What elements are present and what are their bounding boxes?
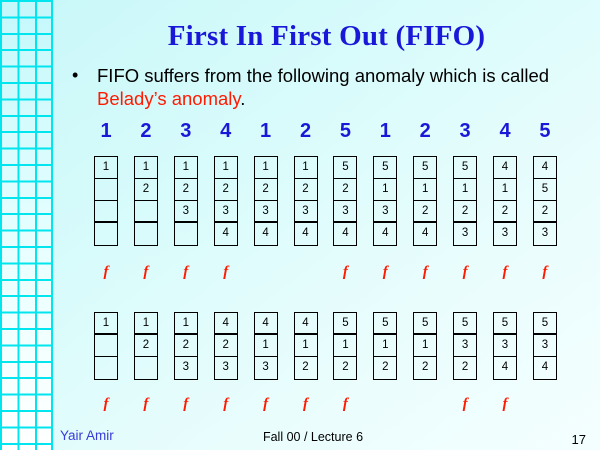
frame-cell: 1 [95,157,117,179]
page-fault-marker: f [333,396,357,413]
frame-cell [95,201,117,223]
page-fault-marker: f [214,264,238,281]
frame-column: 12 [134,156,158,246]
frame-cell: 5 [334,157,356,179]
frame-column: 423 [214,312,238,380]
reference-string-value: 3 [174,120,198,143]
frame-cell: 1 [135,157,157,179]
page-fault-marker: f [134,264,158,281]
frame-cell: 5 [374,157,396,179]
frame-cell: 1 [374,335,396,357]
frame-cell: 1 [95,313,117,335]
page-fault-marker: f [493,396,517,413]
frame-cell: 2 [215,179,237,201]
frame-cell: 5 [334,313,356,335]
frame-cell: 5 [494,313,516,335]
frame-cell: 4 [295,313,317,335]
frame-column: 1 [94,312,118,380]
frame-cell: 4 [255,313,277,335]
page-fault-marker: f [493,264,517,281]
frame-cell: 1 [255,157,277,179]
frame-cell: 4 [215,223,237,245]
frame-cell [135,357,157,379]
frame-cell: 5 [454,157,476,179]
frame-cell: 2 [374,357,396,379]
page-fault-marker: f [333,264,357,281]
frame-cell: 2 [135,179,157,201]
page-fault-marker: f [373,264,397,281]
page-fault-marker: f [453,396,477,413]
frame-cell [95,335,117,357]
bullet-text: FIFO suffers from the following anomaly … [97,64,577,110]
frame-cell: 5 [414,313,436,335]
frame-cell: 1 [334,335,356,357]
frame-cell: 1 [414,179,436,201]
frame-cell: 3 [215,357,237,379]
frame-cell: 3 [295,201,317,223]
frame-cell: 4 [494,357,516,379]
frame-cell: 2 [454,357,476,379]
frame-cell [95,223,117,245]
frame-column: 5234 [333,156,357,246]
frame-cell [95,179,117,201]
frame-cell: 3 [215,201,237,223]
frame-column: 1234 [294,156,318,246]
frame-column: 123 [174,156,198,246]
frame-cell: 1 [175,157,197,179]
frame-column: 5124 [413,156,437,246]
frame-cell: 5 [454,313,476,335]
reference-string-value: 1 [373,120,397,143]
slide-canvas: First In First Out (FIFO) • FIFO suffers… [0,0,600,450]
frame-cell: 4 [255,223,277,245]
reference-string-value: 4 [493,120,517,143]
frame-cell: 2 [454,201,476,223]
frame-column: 123 [174,312,198,380]
frame-cell: 5 [374,313,396,335]
frame-cell [135,223,157,245]
frame-column: 413 [254,312,278,380]
frame-cell: 1 [295,157,317,179]
frame-column: 12 [134,312,158,380]
page-fault-marker: f [134,396,158,413]
page-fault-marker: f [254,396,278,413]
page-title: First In First Out (FIFO) [53,20,600,53]
page-fault-marker: f [533,264,557,281]
frame-cell: 1 [414,335,436,357]
frame-column: 5123 [453,156,477,246]
frame-cell: 4 [494,157,516,179]
frame-cell: 1 [454,179,476,201]
page-fault-marker: f [214,396,238,413]
footer-center-label: Fall 00 / Lecture 6 [53,430,573,444]
frame-cell: 1 [295,335,317,357]
frame-cell: 2 [295,357,317,379]
reference-string-value: 1 [94,120,118,143]
frame-column: 4523 [533,156,557,246]
frame-cell: 2 [494,201,516,223]
page-fault-marker: f [453,264,477,281]
decorative-grid-edge [51,0,53,450]
frame-cell: 1 [255,335,277,357]
frame-cell: 2 [135,335,157,357]
frame-cell: 2 [295,179,317,201]
page-fault-marker: f [413,264,437,281]
frame-cell: 5 [534,179,556,201]
frame-cell: 2 [215,335,237,357]
frame-column: 512 [333,312,357,380]
frame-column: 4123 [493,156,517,246]
footer-page-number: 17 [572,432,586,447]
page-fault-marker: f [174,396,198,413]
bullet-text-lead: FIFO suffers from the following anomaly … [97,65,549,86]
frame-cell: 2 [334,179,356,201]
frame-cell: 4 [334,223,356,245]
frame-cell: 4 [414,223,436,245]
frame-column: 512 [373,312,397,380]
frame-cell [175,223,197,245]
page-fault-marker: f [294,396,318,413]
frame-cell: 3 [255,201,277,223]
frame-cell: 2 [175,335,197,357]
frame-cell: 3 [454,223,476,245]
frame-cell: 2 [414,357,436,379]
reference-string-value: 5 [533,120,557,143]
reference-string-value: 2 [134,120,158,143]
frame-cell: 1 [374,179,396,201]
frame-cell: 1 [175,313,197,335]
frame-column: 412 [294,312,318,380]
frame-cell: 1 [494,179,516,201]
frame-cell: 3 [494,223,516,245]
frame-cell: 5 [534,313,556,335]
frame-cell [135,201,157,223]
bullet-text-tail: . [240,88,245,109]
frame-cell: 5 [414,157,436,179]
frame-cell: 3 [534,335,556,357]
frame-cell: 4 [295,223,317,245]
frame-column: 5134 [373,156,397,246]
page-fault-marker: f [94,264,118,281]
bullet-paragraph: • FIFO suffers from the following anomal… [72,64,577,110]
frame-cell: 4 [215,313,237,335]
frame-cell: 1 [215,157,237,179]
reference-string-value: 1 [254,120,278,143]
frame-cell: 3 [374,201,396,223]
reference-string-value: 5 [333,120,357,143]
page-fault-marker: f [174,264,198,281]
frame-cell: 3 [175,201,197,223]
frame-cell: 3 [534,223,556,245]
frame-cell: 3 [175,357,197,379]
frame-cell: 3 [334,201,356,223]
frame-column: 534 [493,312,517,380]
bullet-point-icon: • [72,64,78,87]
frame-cell: 1 [135,313,157,335]
frame-column: 534 [533,312,557,380]
reference-string-value: 3 [453,120,477,143]
page-fault-marker: f [94,396,118,413]
bullet-text-highlight: Belady’s anomaly [97,88,240,109]
frame-column: 512 [413,312,437,380]
frame-cell: 3 [454,335,476,357]
frame-cell: 2 [175,179,197,201]
frame-cell: 2 [334,357,356,379]
frame-cell [95,357,117,379]
frame-cell: 3 [494,335,516,357]
frame-cell: 4 [534,357,556,379]
frame-cell: 4 [534,157,556,179]
reference-string-value: 2 [294,120,318,143]
frame-cell: 4 [374,223,396,245]
frame-column: 1 [94,156,118,246]
frame-column: 1234 [254,156,278,246]
frame-column: 532 [453,312,477,380]
frame-column: 1234 [214,156,238,246]
frame-cell: 2 [255,179,277,201]
reference-string-value: 2 [413,120,437,143]
frame-cell: 2 [534,201,556,223]
decorative-grid-strip [0,0,53,450]
frame-cell: 3 [255,357,277,379]
frame-cell: 2 [414,201,436,223]
reference-string-value: 4 [214,120,238,143]
